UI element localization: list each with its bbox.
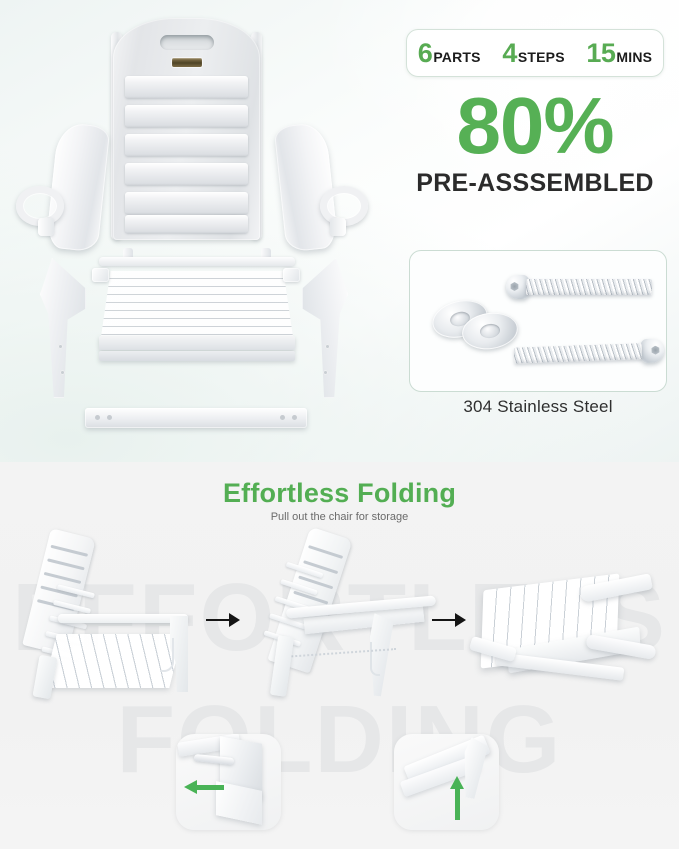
bolt-thread [514,343,642,363]
backrest-slat [125,192,248,214]
leg-body [40,258,86,398]
chair-part-leg-left [40,258,92,400]
folding-stage-open-chair [14,530,194,695]
armrest-blade [274,122,339,253]
detail-inset-pull-out-latch [176,734,281,830]
pre-assembled-percentage: 80% [406,88,664,165]
pre-assembled-callout: 80% PRE-ASSSEMBLED [406,88,664,198]
green-arrow-left-icon [184,780,224,794]
stat-parts: 6 PARTS [418,40,481,67]
stage2-slat [308,545,343,559]
assembly-stats-badge: 6 PARTS 4 STEPS 15 MINS [406,29,664,77]
folding-stage-folded-flat [468,574,663,699]
detail-inset-lift-leg [394,734,499,830]
seat-front-rail-lower [99,351,295,361]
folding-section-subtitle: Pull out the chair for storage [0,511,679,523]
leg-bolt-hole [58,344,63,349]
chair-part-cross-brace [85,408,307,430]
product-parts-section: 6 PARTS 4 STEPS 15 MINS 80% PRE-ASSSEMBL… [0,0,679,462]
bolt-icon [514,340,665,365]
chair-part-leg-right [296,258,348,400]
stat-parts-unit: PARTS [433,50,480,64]
chair-part-backrest [113,18,260,240]
leg-bolt-hole [325,344,330,349]
backrest-slat [125,134,248,156]
cross-brace-bar [85,408,307,428]
pre-assembled-label: PRE-ASSSEMBLED [406,169,664,198]
hardware-caption: 304 Stainless Steel [409,397,667,417]
stat-mins-number: 15 [586,40,615,67]
leg-bolt-hole [323,370,328,375]
folding-section-title: Effortless Folding [0,478,679,509]
stage1-armrest [58,614,188,623]
washer-hole [479,323,501,340]
stage1-slat [47,558,85,570]
backrest-slat [125,76,248,98]
backrest-slat [125,105,248,127]
stage1-slat [44,572,82,584]
seat-front-rail [99,336,295,350]
backrest-frame [113,18,260,240]
backrest-slat [125,215,248,233]
stat-steps: 4 STEPS [502,40,564,67]
leg-body [302,258,348,398]
stat-mins-unit: MINS [616,50,652,64]
stage1-slat [53,600,91,614]
brace-bolt-hole [107,415,112,420]
stage1-slat [50,545,88,557]
armrest-blade [46,122,111,253]
chair-part-armrest-left [14,124,119,254]
cup-holder-stem [38,218,54,236]
backrest-slat [125,163,248,185]
exploded-chair-diagram [0,0,400,460]
stat-parts-number: 6 [418,40,433,67]
hardware-showcase-card [409,250,667,392]
brace-bolt-hole [280,415,285,420]
arrow-right-icon [432,610,466,630]
backrest-handle-cutout [160,35,214,50]
watermark-text-folding: FOLDING [0,692,679,788]
bolt-head [640,338,665,363]
brace-bolt-hole [292,415,297,420]
arrow-right-icon [206,610,240,630]
brace-bolt-hole [95,415,100,420]
leg-bolt-hole [60,370,65,375]
stage2-slat [280,579,318,595]
bolt-icon [506,277,656,297]
seat-slat-surface [101,271,293,337]
bolt-thread [526,279,652,295]
cup-holder-stem [330,218,346,236]
connector-block-left [92,268,109,282]
folding-demo-section: EFFORTLESS FOLDING Effortless Folding Pu… [0,462,679,849]
stat-mins: 15 MINS [586,40,652,67]
chair-part-armrest-right [265,124,370,254]
folding-stage-partially-folded [252,530,432,695]
chair-part-seat [99,257,295,370]
stat-steps-number: 4 [502,40,517,67]
seat-back-rail [99,257,295,266]
brand-logo-plate [172,58,202,67]
green-arrow-up-icon [450,776,464,820]
stage1-folding-hook [160,638,174,672]
stat-steps-unit: STEPS [518,50,565,64]
stage1-rear-leg [32,655,57,699]
